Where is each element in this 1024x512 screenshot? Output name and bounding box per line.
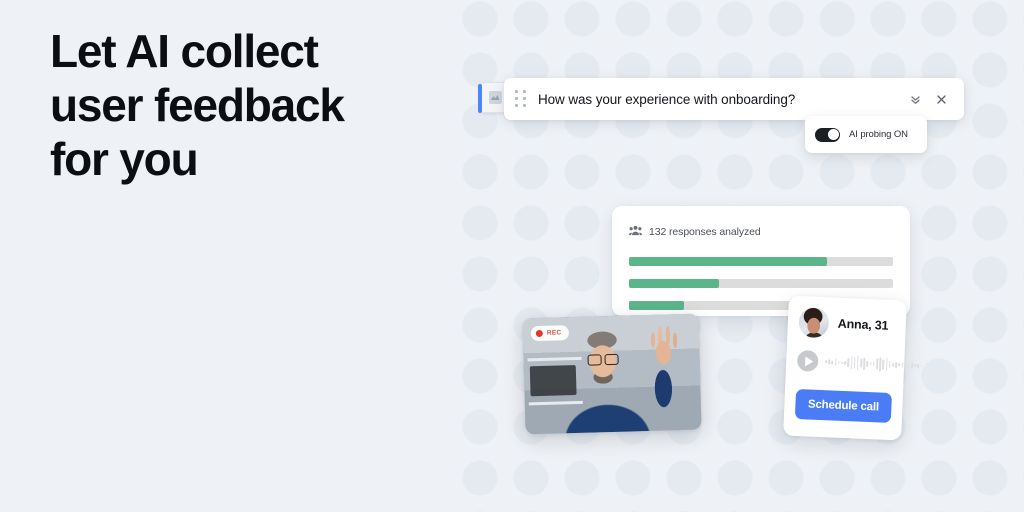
respondent-name: Anna, 31 (838, 317, 889, 333)
recording-badge: REC (531, 325, 569, 341)
drag-dots-icon[interactable] (514, 90, 528, 108)
recording-label: REC (547, 329, 562, 336)
question-text: How was your experience with onboarding? (538, 92, 900, 107)
audio-waveform-icon (825, 353, 923, 375)
response-bar-track (629, 257, 893, 266)
responses-header: 132 responses analyzed (629, 223, 893, 241)
close-x-icon[interactable] (930, 88, 952, 110)
question-bar[interactable]: How was your experience with onboarding? (504, 78, 964, 120)
page-title: Let AI collect user feedback for you (50, 24, 430, 186)
respondent-header: Anna, 31 (798, 307, 895, 341)
response-bar-fill (629, 301, 684, 310)
audio-player[interactable] (797, 350, 894, 375)
record-dot-icon (536, 330, 543, 337)
ai-probing-popover[interactable]: AI probing ON (805, 116, 927, 153)
avatar (798, 307, 829, 338)
response-bar-fill (629, 279, 719, 288)
background-shelf-decor (530, 365, 577, 396)
respondent-profile-card: Anna, 31 Schedule call (783, 296, 907, 441)
responses-count-label: 132 responses analyzed (649, 226, 761, 238)
ai-probing-label: AI probing ON (849, 129, 908, 140)
double-chevron-down-icon[interactable] (904, 88, 926, 110)
people-group-icon (629, 223, 642, 241)
schedule-call-button[interactable]: Schedule call (795, 389, 892, 423)
ai-probing-toggle[interactable] (815, 128, 840, 142)
response-bar-fill (629, 257, 827, 266)
play-icon[interactable] (797, 350, 819, 372)
glasses-decor (587, 354, 618, 364)
image-placeholder-icon (489, 91, 502, 104)
response-bar-track (629, 279, 893, 288)
hero-illustration-panel: How was your experience with onboarding?… (460, 0, 1024, 512)
video-recording-card[interactable]: REC (522, 314, 701, 435)
